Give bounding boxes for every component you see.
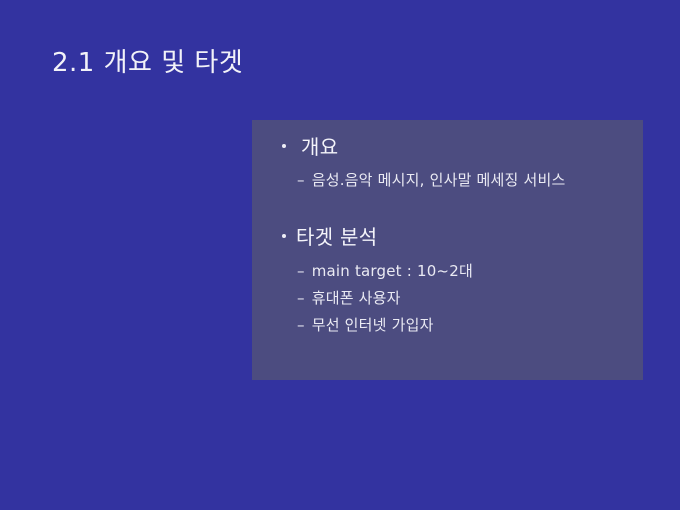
list-item: – 무선 인터넷 가입자 <box>252 312 643 339</box>
bullet-label-overview: 개요 <box>301 134 338 160</box>
content-panel: 개요 – 음성.음악 메시지, 인사말 메세징 서비스 타겟 분석 – main… <box>252 120 643 380</box>
sub-list-overview: – 음성.음악 메시지, 인사말 메세징 서비스 <box>252 167 643 194</box>
section-target-analysis: 타겟 분석 – main target : 10~2대 – 휴대폰 사용자 – … <box>252 224 643 339</box>
bullet-dot-icon <box>282 144 286 148</box>
list-item-label: main target : 10~2대 <box>312 258 473 285</box>
page-title: 2.1 개요 및 타겟 <box>52 47 243 79</box>
dash-icon: – <box>297 167 305 194</box>
dash-icon: – <box>297 312 305 339</box>
list-item: – 음성.음악 메시지, 인사말 메세징 서비스 <box>252 167 643 194</box>
list-item-label: 휴대폰 사용자 <box>312 285 401 312</box>
section-overview: 개요 – 음성.음악 메시지, 인사말 메세징 서비스 <box>252 134 643 194</box>
bullet-dot-icon <box>282 234 286 238</box>
list-item: – main target : 10~2대 <box>252 258 643 285</box>
list-item: – 휴대폰 사용자 <box>252 285 643 312</box>
bullet-label-target-analysis: 타겟 분석 <box>296 224 377 250</box>
sub-list-target-analysis: – main target : 10~2대 – 휴대폰 사용자 – 무선 인터넷… <box>252 258 643 339</box>
presentation-slide: 2.1 개요 및 타겟 개요 – 음성.음악 메시지, 인사말 메세징 서비스 … <box>0 0 680 510</box>
list-item-label: 무선 인터넷 가입자 <box>312 312 434 339</box>
bullet-item-overview: 개요 <box>252 134 643 160</box>
list-item-label: 음성.음악 메시지, 인사말 메세징 서비스 <box>312 167 566 194</box>
dash-icon: – <box>297 285 305 312</box>
dash-icon: – <box>297 258 305 285</box>
bullet-item-target-analysis: 타겟 분석 <box>252 224 643 250</box>
